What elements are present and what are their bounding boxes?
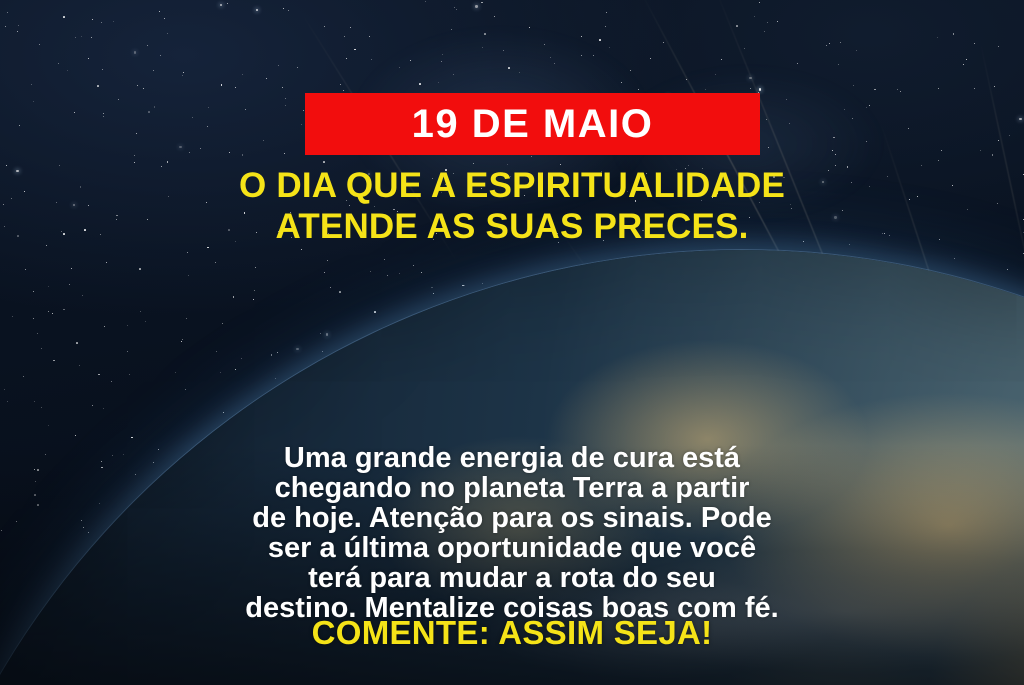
headline-line-2: ATENDE AS SUAS PRECES.	[0, 206, 1024, 247]
body-line-1: Uma grande energia de cura está	[0, 443, 1024, 473]
body-line-3: de hoje. Atenção para os sinais. Pode	[0, 503, 1024, 533]
body-line-4: ser a última oportunidade que você	[0, 533, 1024, 563]
call-to-action: COMENTE: ASSIM SEJA!	[0, 614, 1024, 652]
date-banner: 19 DE MAIO	[305, 93, 760, 155]
headline-line-1: O DIA QUE A ESPIRITUALIDADE	[0, 165, 1024, 206]
poster-image: 19 DE MAIO O DIA QUE A ESPIRITUALIDADE A…	[0, 0, 1024, 685]
call-to-action-label: COMENTE: ASSIM SEJA!	[312, 614, 713, 651]
body-copy: Uma grande energia de cura está chegando…	[0, 443, 1024, 623]
poster-content: 19 DE MAIO O DIA QUE A ESPIRITUALIDADE A…	[0, 0, 1024, 685]
date-banner-label: 19 DE MAIO	[412, 104, 654, 144]
headline: O DIA QUE A ESPIRITUALIDADE ATENDE AS SU…	[0, 165, 1024, 247]
body-line-2: chegando no planeta Terra a partir	[0, 473, 1024, 503]
body-line-5: terá para mudar a rota do seu	[0, 563, 1024, 593]
